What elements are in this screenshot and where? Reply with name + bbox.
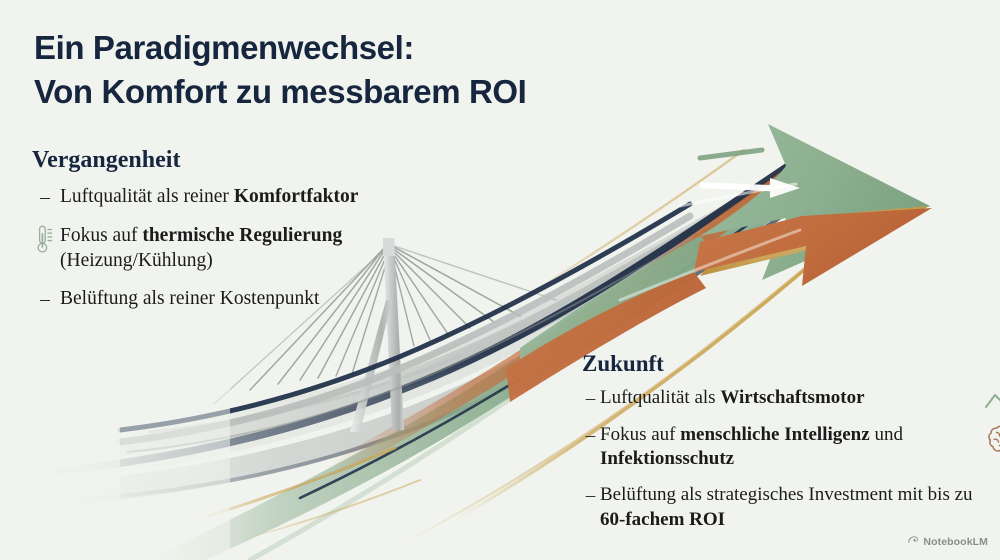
thermometer-icon — [32, 224, 58, 255]
bullet-segment: und — [870, 424, 903, 445]
dash-marker: – — [582, 483, 599, 508]
dash-marker: – — [32, 185, 58, 211]
notebooklm-watermark: NotebookLM — [907, 533, 988, 551]
bullet-text: Belüftung als reiner Kostenpunkt — [60, 287, 384, 312]
bullet-segment: (Heizung/Kühlung) — [60, 250, 213, 271]
bullet-segment: Belüftung als strategisches Investment m… — [600, 484, 973, 505]
dash-marker: – — [582, 423, 599, 448]
title-line-1: Ein Paradigmenwechsel: — [34, 26, 674, 70]
bullet-segment-bold: thermische Regulierung — [142, 225, 342, 246]
bullet-segment: Belüftung als reiner Kostenpunkt — [60, 288, 319, 309]
list-item: – Belüftung als strategisches Investment… — [582, 483, 982, 531]
bullet-segment: Fokus auf — [60, 225, 142, 246]
bullet-segment: Luftqualität als — [600, 387, 720, 408]
list-item: – Luftqualität als reiner Komfortfaktor — [32, 185, 384, 211]
bullet-segment: Fokus auf — [600, 424, 680, 445]
bullet-segment-bold: menschliche Intelligenz — [680, 424, 869, 445]
section-vergangenheit: Vergangenheit – Luftqualität als reiner … — [32, 148, 384, 326]
notebooklm-logo-icon — [907, 533, 919, 551]
bullet-segment: Luftqualität als reiner — [60, 186, 234, 207]
green-arrowhead — [700, 124, 930, 280]
slide-canvas: Ein Paradigmenwechsel: Von Komfort zu me… — [0, 0, 1000, 560]
bullet-text: Fokus auf menschliche Intelligenz und In… — [600, 423, 980, 471]
green-tail-stub — [700, 150, 762, 158]
section-zukunft: Zukunft – Luftqualität als Wirtschaftsmo… — [582, 352, 982, 544]
title-line-2: Von Komfort zu messbarem ROI — [34, 70, 674, 114]
bullet-text: Luftqualität als Wirtschaftsmotor — [600, 386, 980, 410]
bullet-list-past: – Luftqualität als reiner Komfortfaktor — [32, 185, 384, 313]
section-heading-past: Vergangenheit — [32, 148, 384, 172]
dash-marker: – — [32, 287, 58, 313]
watermark-label: NotebookLM — [923, 536, 988, 548]
bullet-list-future: – Luftqualität als Wirtschaftsmotor – — [582, 386, 982, 532]
list-item: Fokus auf thermische Regulierung (Heizun… — [32, 224, 384, 274]
bullet-segment-bold: Infektionsschutz — [600, 448, 734, 469]
list-item: – Belüftung als reiner Kostenpunkt — [32, 287, 384, 313]
gold-arrow-edge — [700, 206, 930, 276]
bullet-segment-bold: 60-fachem ROI — [600, 509, 725, 530]
dash-marker: – — [582, 386, 599, 411]
dash-glyph: – — [586, 424, 596, 448]
page-title: Ein Paradigmenwechsel: Von Komfort zu me… — [34, 26, 674, 114]
list-item: – Fokus auf menschliche Intelligenz und … — [582, 423, 982, 471]
dash-glyph: – — [40, 288, 50, 313]
trend-up-icon — [984, 382, 1000, 417]
bullet-text: Fokus auf thermische Regulierung (Heizun… — [60, 224, 384, 274]
dash-glyph: – — [586, 484, 596, 508]
bullet-text: Belüftung als strategisches Investment m… — [600, 483, 980, 531]
brain-icon — [986, 423, 1000, 464]
dash-glyph: – — [586, 387, 596, 411]
dash-glyph: – — [40, 186, 50, 211]
bullet-segment-bold: Komfortfaktor — [234, 186, 359, 207]
white-inner-arrow — [700, 178, 800, 198]
bullet-segment-bold: Wirtschaftsmotor — [720, 387, 864, 408]
list-item: – Luftqualität als Wirtschaftsmotor — [582, 386, 982, 411]
bullet-text: Luftqualität als reiner Komfortfaktor — [60, 185, 384, 210]
section-heading-future: Zukunft — [582, 352, 982, 375]
